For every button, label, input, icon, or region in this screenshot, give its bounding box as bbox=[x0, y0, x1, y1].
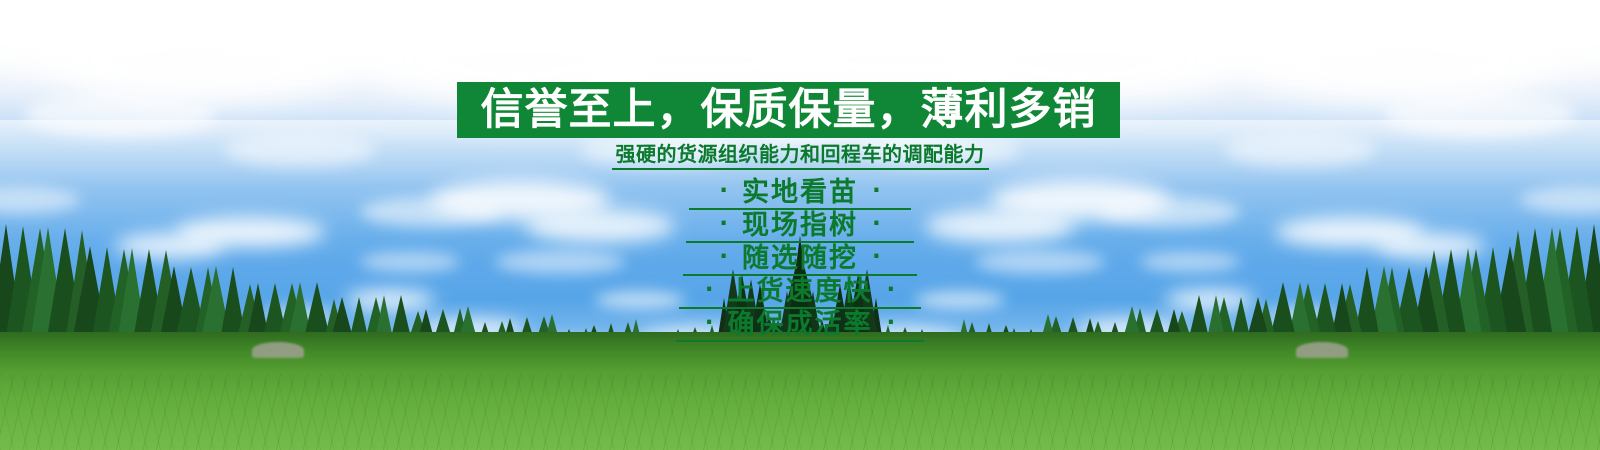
bullet-dot-right-icon: · bbox=[872, 180, 881, 206]
headline-banner-bar: 信誉至上，保质保量，薄利多销 bbox=[457, 82, 1120, 138]
feature-row: ·确保成活率· bbox=[0, 308, 1600, 341]
feature-row: ·实地看苗· bbox=[0, 176, 1600, 209]
promo-banner: 信誉至上，保质保量，薄利多销 强硬的货源组织能力和回程车的调配能力 ·实地看苗·… bbox=[0, 0, 1600, 450]
bullet-dot-left-icon: · bbox=[719, 213, 728, 239]
bullet-dot-left-icon: · bbox=[705, 312, 714, 338]
feature-label: 现场指树 bbox=[728, 212, 872, 239]
feature-label: 实地看苗 bbox=[728, 179, 872, 206]
subtitle-row: 强硬的货源组织能力和回程车的调配能力 bbox=[0, 143, 1600, 170]
bullet-dot-left-icon: · bbox=[719, 246, 728, 272]
subtitle-text: 强硬的货源组织能力和回程车的调配能力 bbox=[612, 143, 989, 170]
banner-content: 信誉至上，保质保量，薄利多销 强硬的货源组织能力和回程车的调配能力 ·实地看苗·… bbox=[0, 0, 1600, 450]
bullet-dot-left-icon: · bbox=[719, 180, 728, 206]
feature-divider bbox=[676, 340, 924, 342]
headline-text: 信誉至上，保质保量，薄利多销 bbox=[481, 89, 1097, 132]
feature-label: 随选随挖 bbox=[728, 245, 872, 272]
feature-row: ·现场指树· bbox=[0, 209, 1600, 242]
bullet-dot-right-icon: · bbox=[872, 246, 881, 272]
bullet-dot-right-icon: · bbox=[872, 213, 881, 239]
feature-list: ·实地看苗··现场指树··随选随挖··上货速度快··确保成活率· bbox=[0, 176, 1600, 341]
feature-row: ·随选随挖· bbox=[0, 242, 1600, 275]
bullet-dot-right-icon: · bbox=[887, 279, 896, 305]
feature-label: 上货速度快 bbox=[714, 278, 887, 305]
bullet-dot-right-icon: · bbox=[887, 312, 896, 338]
bullet-dot-left-icon: · bbox=[705, 279, 714, 305]
feature-row: ·上货速度快· bbox=[0, 275, 1600, 308]
feature-label: 确保成活率 bbox=[714, 311, 887, 338]
